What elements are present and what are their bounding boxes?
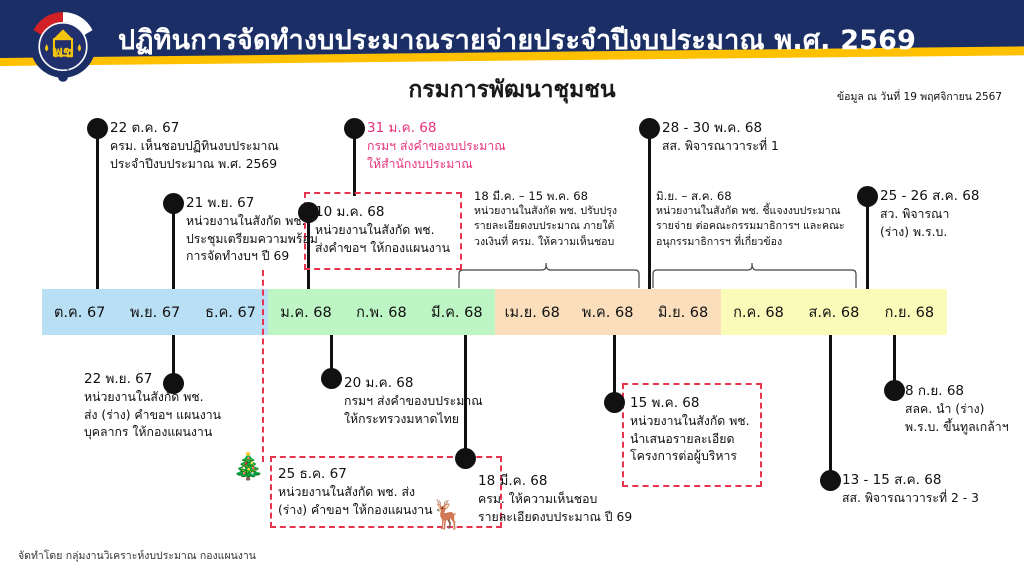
event-e6-line2: (ร่าง) พ.ร.บ. [880, 224, 979, 241]
community-development-department-emblem: พช กรมการพัฒนาชุมชน [22, 8, 104, 90]
event-e4-date: 31 ม.ค. 68 [367, 119, 506, 138]
page-title: ปฏิทินการจัดทำงบประมาณรายจ่ายประจำปีงบปร… [118, 18, 916, 61]
event-e5: 28 - 30 พ.ค. 68 สส. พิจารณาวาระที่ 1 [662, 119, 779, 156]
event-b7: 8 ก.ย. 68 สลค. นำ (ร่าง) พ.ร.บ. ขึ้นทูลเ… [905, 382, 1009, 436]
month-cell-oct67[interactable]: ต.ค. 67 [42, 289, 117, 335]
event-e2-line1: หน่วยงานในสังกัด พช. [186, 213, 318, 230]
event-e4-line1: กรมฯ ส่งคำของบประมาณ [367, 138, 506, 155]
month-cell-apr68[interactable]: เม.ย. 68 [495, 289, 570, 335]
range-r1: 18 มี.ค. – 15 พ.ค. 68 หน่วยงานในสังกัด พ… [474, 188, 617, 250]
event-b3-line1: กรมฯ ส่งคำของบประมาณ [344, 393, 483, 410]
stem-e1 [96, 128, 99, 290]
dot-e5[interactable] [639, 118, 660, 139]
stem-b6 [829, 335, 832, 477]
event-b7-date: 8 ก.ย. 68 [905, 382, 1009, 401]
event-b7-line1: สลค. นำ (ร่าง) [905, 401, 1009, 418]
callout-connector-line [262, 270, 264, 462]
bracket-range-r1 [458, 262, 640, 288]
event-e1-line1: ครม. เห็นชอบปฏิทินงบประมาณ [110, 138, 279, 155]
event-e5-date: 28 - 30 พ.ค. 68 [662, 119, 779, 138]
as-of-date: ข้อมูล ณ วันที่ 19 พฤศจิกายน 2567 [837, 88, 1002, 105]
range-r2-line3: อนุกรรมาธิการฯ ที่เกี่ยวข้อง [656, 235, 845, 250]
timeline-bar: ต.ค. 67 พ.ย. 67 ธ.ค. 67 ม.ค. 68 ก.พ. 68 … [42, 289, 947, 335]
event-b7-line2: พ.ร.บ. ขึ้นทูลเกล้าฯ [905, 419, 1009, 436]
event-b3-line2: ให้กระทรวงมหาดไทย [344, 411, 483, 428]
month-cell-mar68[interactable]: มี.ค. 68 [419, 289, 494, 335]
dot-b6[interactable] [820, 470, 841, 491]
svg-text:พช: พช [53, 43, 74, 61]
event-e3-date: 10 ม.ค. 68 [315, 203, 450, 222]
footer-credit: จัดทำโดย กลุ่มงานวิเคราะห์งบประมาณ กองแผ… [18, 547, 256, 564]
dot-b7[interactable] [884, 380, 905, 401]
event-b5-line2: นำเสนอรายละเอียด [630, 431, 750, 448]
event-e1-line2: ประจำปีงบประมาณ พ.ศ. 2569 [110, 156, 279, 173]
event-b5-date: 15 พ.ค. 68 [630, 394, 750, 413]
event-b3-date: 20 ม.ค. 68 [344, 374, 483, 393]
month-cell-dec67[interactable]: ธ.ค. 67 [193, 289, 268, 335]
santa-reindeer-icon: 🦌 [430, 498, 465, 531]
event-e4-line2: ให้สำนักงบประมาณ [367, 156, 506, 173]
event-b5-line3: โครงการต่อผู้บริหาร [630, 448, 750, 465]
event-e4: 31 ม.ค. 68 กรมฯ ส่งคำของบประมาณ ให้สำนัก… [367, 119, 506, 173]
stem-e5 [648, 128, 651, 290]
event-e6-line1: สว. พิจารณา [880, 206, 979, 223]
dot-b3[interactable] [321, 368, 342, 389]
event-b5: 15 พ.ค. 68 หน่วยงานในสังกัด พช. นำเสนอรา… [630, 394, 750, 466]
month-cell-jun68[interactable]: มิ.ย. 68 [645, 289, 720, 335]
event-b2-line1: หน่วยงานในสังกัด พช. ส่ง [278, 484, 433, 501]
month-cell-feb68[interactable]: ก.พ. 68 [344, 289, 419, 335]
event-e2-line3: การจัดทำงบฯ ปี 69 [186, 248, 318, 265]
month-cell-jul68[interactable]: ก.ค. 68 [721, 289, 796, 335]
month-cell-sep68[interactable]: ก.ย. 68 [872, 289, 947, 335]
range-r2-line2: รายจ่าย ต่อคณะกรรมมาธิการฯ และคณะ [656, 219, 845, 234]
event-b6-line1: สส. พิจารณาวาระที่ 2 - 3 [842, 490, 979, 507]
event-e3-line1: หน่วยงานในสังกัด พช. [315, 222, 450, 239]
range-r1-date: 18 มี.ค. – 15 พ.ค. 68 [474, 188, 617, 204]
range-r1-line1: หน่วยงานในสังกัด พช. ปรับปรุง [474, 204, 617, 219]
range-r2: มิ.ย. – ส.ค. 68 หน่วยงานในสังกัด พช. ชี้… [656, 188, 845, 250]
month-cell-aug68[interactable]: ส.ค. 68 [796, 289, 871, 335]
event-b1-line2: ส่ง (ร่าง) คำขอฯ แผนงาน [84, 407, 221, 424]
bracket-range-r2 [652, 262, 857, 288]
stem-b5 [613, 335, 616, 399]
range-r1-line3: วงเงินที่ ครม. ให้ความเห็นชอบ [474, 235, 617, 250]
christmas-wreath-icon: 🎄 [232, 452, 264, 482]
dot-e6[interactable] [857, 186, 878, 207]
dot-e1[interactable] [87, 118, 108, 139]
event-b5-line1: หน่วยงานในสังกัด พช. [630, 413, 750, 430]
event-e2-line2: ประชุมเตรียมความพร้อม [186, 231, 318, 248]
event-b2-line2: (ร่าง) คำขอฯ ให้กองแผนงาน [278, 502, 433, 519]
month-cell-may68[interactable]: พ.ค. 68 [570, 289, 645, 335]
dot-e2[interactable] [163, 193, 184, 214]
event-e3: 10 ม.ค. 68 หน่วยงานในสังกัด พช. ส่งคำขอฯ… [315, 203, 450, 257]
event-e1: 22 ต.ค. 67 ครม. เห็นชอบปฏิทินงบประมาณ ปร… [110, 119, 279, 173]
event-b3: 20 ม.ค. 68 กรมฯ ส่งคำของบประมาณ ให้กระทร… [344, 374, 483, 428]
event-b2-date: 25 ธ.ค. 67 [278, 465, 433, 484]
event-e6: 25 - 26 ส.ค. 68 สว. พิจารณา (ร่าง) พ.ร.บ… [880, 187, 979, 241]
event-e6-date: 25 - 26 ส.ค. 68 [880, 187, 979, 206]
event-b4-date: 18 มี.ค. 68 [478, 472, 632, 491]
dot-b4[interactable] [455, 448, 476, 469]
event-b1-date: 22 พ.ย. 67 [84, 370, 221, 389]
event-b4: 18 มี.ค. 68 ครม. ให้ความเห็นชอบ รายละเอี… [478, 472, 632, 526]
event-b4-line1: ครม. ให้ความเห็นชอบ [478, 491, 632, 508]
event-b1-line3: บุคลากร ให้กองแผนงาน [84, 424, 221, 441]
event-b1: 22 พ.ย. 67 หน่วยงานในสังกัด พช. ส่ง (ร่า… [84, 370, 221, 442]
event-b4-line2: รายละเอียดงบประมาณ ปี 69 [478, 509, 632, 526]
month-cell-jan68[interactable]: ม.ค. 68 [268, 289, 343, 335]
event-b1-line1: หน่วยงานในสังกัด พช. [84, 389, 221, 406]
event-b6: 13 - 15 ส.ค. 68 สส. พิจารณาวาระที่ 2 - 3 [842, 471, 979, 508]
range-r1-line2: รายละเอียดงบประมาณ ภายใต้ [474, 219, 617, 234]
event-e2: 21 พ.ย. 67 หน่วยงานในสังกัด พช. ประชุมเต… [186, 194, 318, 266]
dot-b5[interactable] [604, 392, 625, 413]
range-r2-date: มิ.ย. – ส.ค. 68 [656, 188, 845, 204]
budget-calendar-infographic: พช กรมการพัฒนาชุมชน ปฏิทินการจัดทำงบประม… [0, 0, 1024, 576]
event-e5-line1: สส. พิจารณาวาระที่ 1 [662, 138, 779, 155]
month-cell-nov67[interactable]: พ.ย. 67 [117, 289, 192, 335]
event-e2-date: 21 พ.ย. 67 [186, 194, 318, 213]
event-e3-line2: ส่งคำขอฯ ให้กองแผนงาน [315, 240, 450, 257]
event-b6-date: 13 - 15 ส.ค. 68 [842, 471, 979, 490]
range-r2-line1: หน่วยงานในสังกัด พช. ชี้แจงงบประมาณ [656, 204, 845, 219]
dot-e4[interactable] [344, 118, 365, 139]
stem-e6 [866, 196, 869, 290]
stem-e2 [172, 203, 175, 290]
event-e1-date: 22 ต.ค. 67 [110, 119, 279, 138]
event-b2: 25 ธ.ค. 67 หน่วยงานในสังกัด พช. ส่ง (ร่า… [278, 465, 433, 519]
